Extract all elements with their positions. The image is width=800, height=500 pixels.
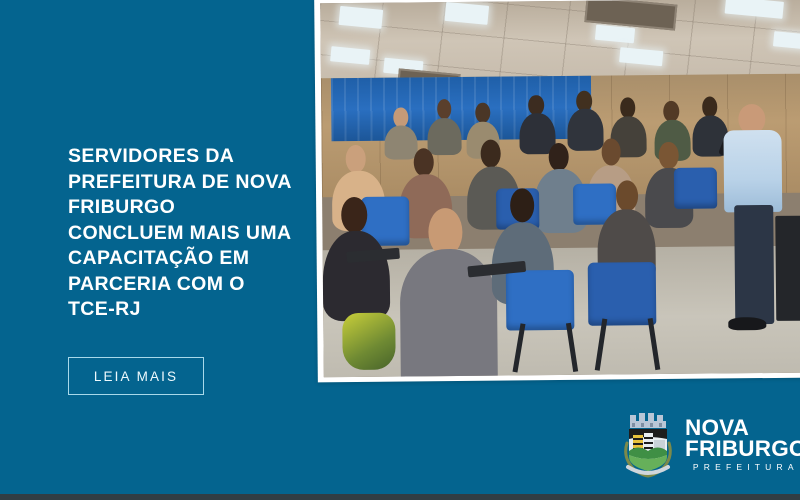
coat-of-arms-icon	[620, 409, 676, 479]
audience-head	[510, 188, 534, 222]
read-more-button[interactable]: LEIA MAIS	[68, 357, 204, 395]
speaker-legs	[734, 205, 774, 325]
audience-head	[601, 139, 621, 166]
audience-head	[548, 143, 569, 171]
news-banner: SERVIDORES DA PREFEITURA DE NOVA FRIBURG…	[0, 0, 800, 500]
auditorium-chair	[674, 168, 718, 210]
article-photo	[314, 0, 800, 382]
logo-line-prefeitura: PREFEITURA	[685, 462, 800, 472]
bottom-bar	[0, 494, 800, 500]
nova-friburgo-logo[interactable]: NOVA FRIBURGO PREFEITURA	[620, 404, 790, 484]
auditorium-chair	[588, 262, 656, 326]
logo-line-nova: NOVA	[685, 417, 800, 438]
backpack	[342, 313, 396, 370]
ceiling-light-icon	[445, 2, 490, 25]
speaker-torso	[724, 130, 783, 213]
audience-head	[659, 142, 679, 169]
page-title: SERVIDORES DA PREFEITURA DE NOVA FRIBURG…	[68, 144, 293, 323]
audience-head	[616, 180, 638, 212]
side-table	[775, 216, 800, 321]
audience-head	[394, 107, 409, 127]
audience-head	[663, 101, 679, 122]
speaker-shoe	[728, 317, 767, 330]
audience-head	[475, 103, 490, 123]
auditorium-photo-canvas	[320, 0, 800, 377]
audience-person	[427, 118, 461, 156]
audience-head	[413, 148, 434, 176]
auditorium-chair	[506, 270, 574, 330]
audience-person	[567, 109, 604, 150]
audience-person	[384, 126, 418, 160]
logo-wordmark: NOVA FRIBURGO PREFEITURA	[685, 417, 800, 472]
logo-line-friburgo: FRIBURGO	[685, 438, 800, 459]
